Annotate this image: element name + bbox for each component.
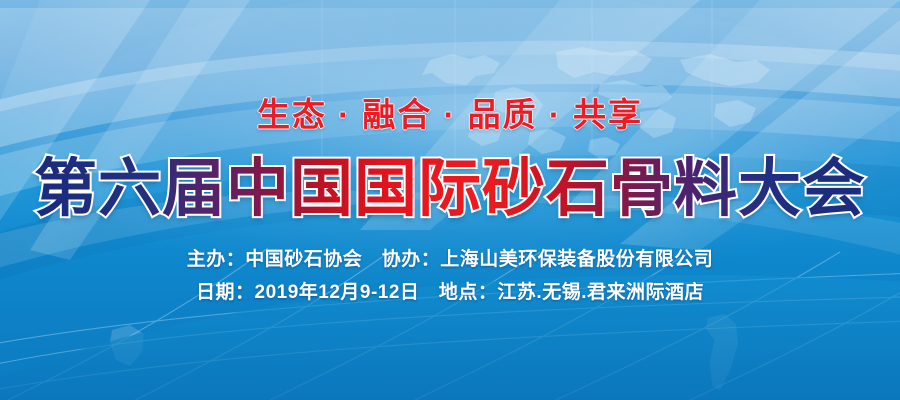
organizer-line: 主办：中国砂石协会 协办：上海山美环保装备股份有限公司 bbox=[187, 244, 714, 275]
main-title-wrapper: 第六届中国国际砂石骨料大会 第六届中国国际砂石骨料大会 bbox=[34, 156, 866, 222]
main-title: 第六届中国国际砂石骨料大会 bbox=[34, 156, 866, 222]
tagline: 生态 · 融合 · 品质 · 共享 bbox=[257, 88, 643, 136]
conference-banner: 生态 · 融合 · 品质 · 共享 第六届中国国际砂石骨料大会 第六届中国国际砂… bbox=[0, 0, 900, 400]
banner-content: 生态 · 融合 · 品质 · 共享 第六届中国国际砂石骨料大会 第六届中国国际砂… bbox=[0, 0, 900, 400]
date-venue-line: 日期：2019年12月9-12日 地点：江苏.无锡.君来洲际酒店 bbox=[196, 277, 704, 308]
